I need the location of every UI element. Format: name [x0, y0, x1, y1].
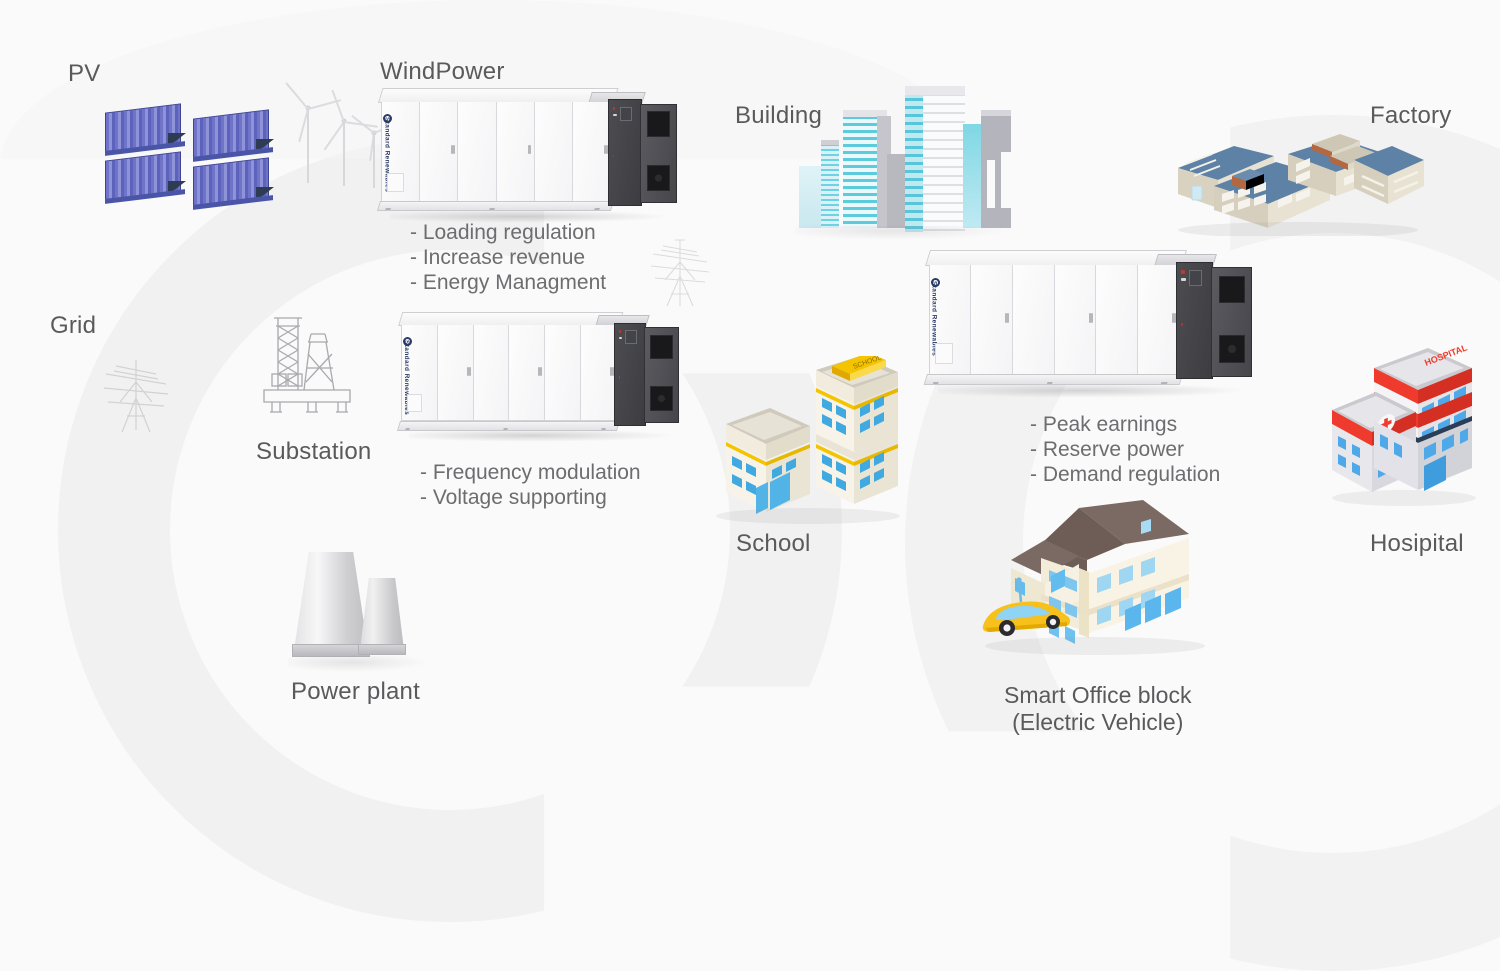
power-plant-icon [288, 548, 428, 666]
container-generation[interactable]: Standard Renewables [378, 88, 678, 223]
bullet-item: - Reserve power [1030, 437, 1220, 462]
caption-smart-office: Smart Office block (Electric Vehicle) [1004, 682, 1191, 736]
bullets-load-side: - Peak earnings - Reserve power - Demand… [1030, 412, 1220, 487]
substation-icon [258, 312, 356, 424]
bullet-item: - Loading regulation [410, 220, 606, 245]
bullet-item: - Peak earnings [1030, 412, 1220, 437]
label-grid: Grid [50, 312, 96, 340]
label-factory: Factory [1370, 102, 1451, 130]
bullet-item: - Frequency modulation [420, 460, 641, 485]
container-grid-services[interactable]: Standard Renewables [398, 312, 680, 442]
bullet-item: - Increase revenue [410, 245, 606, 270]
smart-office-icon [975, 498, 1215, 670]
caption-line: Smart Office block [1004, 682, 1191, 709]
bullets-generation: - Loading regulation - Increase revenue … [410, 220, 606, 295]
grid-pylon-icon [100, 350, 172, 438]
bullets-grid-services: - Frequency modulation - Voltage support… [420, 460, 641, 510]
hospital-icon: HOSPITAL [1330, 338, 1478, 514]
pv-solar-array [105, 108, 275, 198]
label-hospital: Hosipital [1370, 530, 1464, 558]
caption-line: (Electric Vehicle) [1004, 709, 1191, 736]
factory-icon [1178, 128, 1424, 236]
bullet-item: - Demand regulation [1030, 462, 1220, 487]
bullet-item: - Energy Managment [410, 270, 606, 295]
container-load-side[interactable]: Standard Renewables [925, 250, 1253, 398]
transmission-pylon-icon [645, 232, 715, 312]
school-icon: SCHOOL [712, 356, 904, 528]
label-power-plant: Power plant [291, 678, 420, 706]
label-substation: Substation [256, 438, 371, 466]
label-school: School [736, 530, 811, 558]
label-pv: PV [68, 60, 100, 88]
bullet-item: - Voltage supporting [420, 485, 641, 510]
label-windpower: WindPower [380, 58, 505, 86]
building-skyline-icon [795, 88, 985, 233]
diagram-canvas: PV [0, 0, 1500, 798]
